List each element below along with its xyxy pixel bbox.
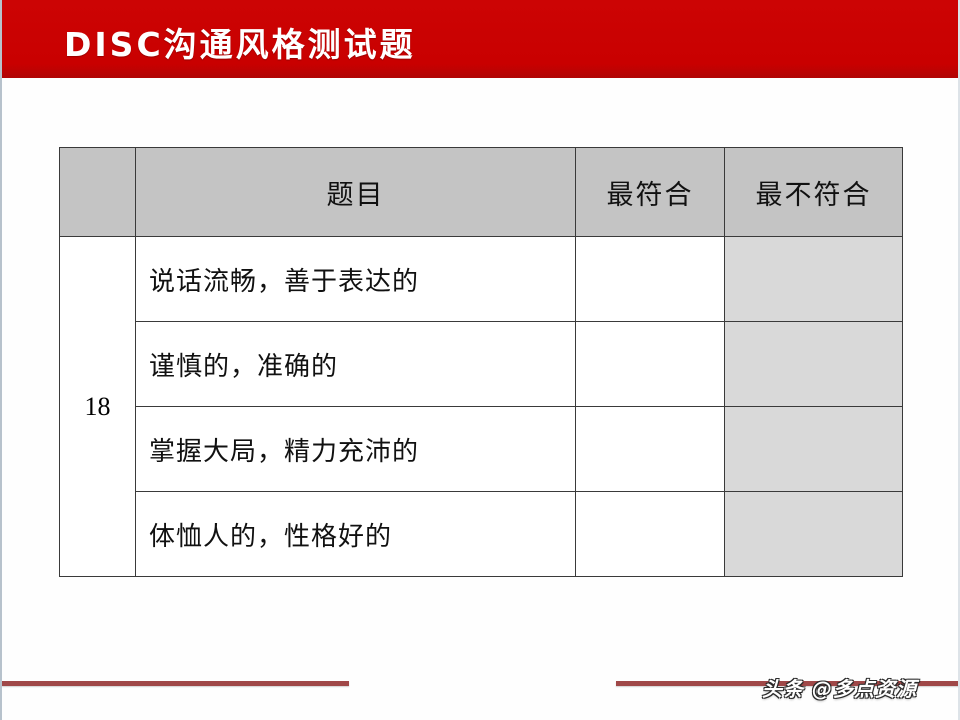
table-row: 体恤人的，性格好的 bbox=[60, 492, 903, 577]
table-row: 18 说话流畅，善于表达的 bbox=[60, 237, 903, 322]
answer-cell-most[interactable] bbox=[576, 492, 725, 577]
answer-cell-most[interactable] bbox=[576, 407, 725, 492]
page-title: DISC沟通风格测试题 bbox=[64, 18, 416, 66]
column-header-item: 题目 bbox=[136, 148, 576, 237]
column-header-most: 最符合 bbox=[576, 148, 725, 237]
watermark-label: 头条 @多点资源 bbox=[762, 673, 917, 702]
question-option-text: 掌握大局，精力充沛的 bbox=[136, 407, 576, 492]
slide-canvas: DISC沟通风格测试题 题目 最符合 最不符合 18 说话流畅，善于表达的 bbox=[0, 0, 960, 720]
answer-cell-least[interactable] bbox=[725, 322, 903, 407]
question-option-text: 说话流畅，善于表达的 bbox=[136, 237, 576, 322]
column-header-number bbox=[60, 148, 136, 237]
table-header: 题目 最符合 最不符合 bbox=[60, 148, 903, 237]
answer-cell-least[interactable] bbox=[725, 492, 903, 577]
answer-cell-most[interactable] bbox=[576, 237, 725, 322]
table-row: 掌握大局，精力充沛的 bbox=[60, 407, 903, 492]
table-body: 18 说话流畅，善于表达的 谨慎的，准确的 掌握大局，精力充沛的 体恤人的，性格… bbox=[60, 237, 903, 577]
table-row: 谨慎的，准确的 bbox=[60, 322, 903, 407]
title-banner: DISC沟通风格测试题 bbox=[2, 0, 960, 78]
column-header-least: 最不符合 bbox=[725, 148, 903, 237]
answer-cell-most[interactable] bbox=[576, 322, 725, 407]
answer-cell-least[interactable] bbox=[725, 237, 903, 322]
footer-rule-left bbox=[2, 681, 349, 686]
question-option-text: 谨慎的，准确的 bbox=[136, 322, 576, 407]
table-header-row: 题目 最符合 最不符合 bbox=[60, 148, 903, 237]
question-number-cell: 18 bbox=[60, 237, 136, 577]
question-option-text: 体恤人的，性格好的 bbox=[136, 492, 576, 577]
answer-cell-least[interactable] bbox=[725, 407, 903, 492]
quiz-table: 题目 最符合 最不符合 18 说话流畅，善于表达的 谨慎的，准确的 掌握大局，精… bbox=[59, 147, 903, 577]
